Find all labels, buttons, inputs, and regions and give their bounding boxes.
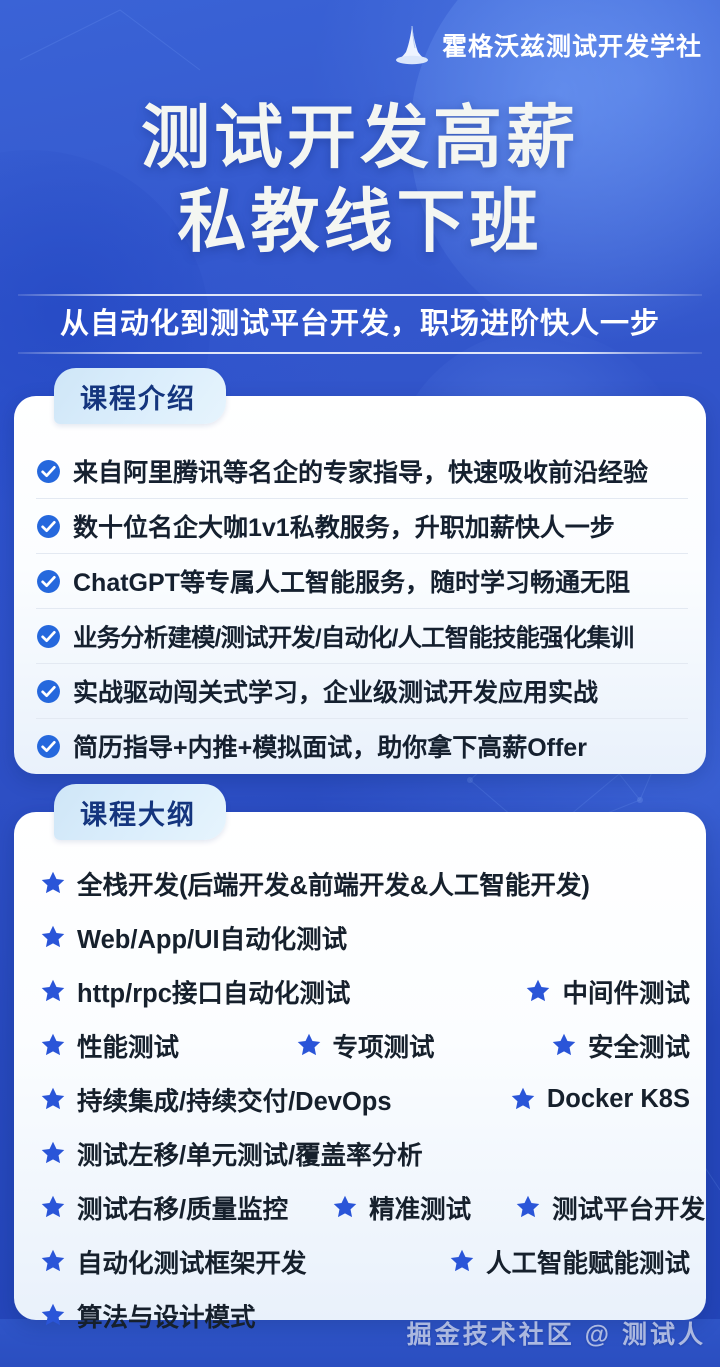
list-item-label: 数十位名企大咖1v1私教服务，升职加薪快人一步 [73, 508, 615, 544]
check-circle-icon [36, 734, 61, 759]
star-icon [40, 1032, 66, 1058]
list-item: 中间件测试 [525, 973, 690, 1010]
list-item-label: ChatGPT等专属人工智能服务，随时学习畅通无阻 [73, 563, 630, 599]
section-badge-intro: 课程介绍 [54, 368, 226, 424]
star-icon [510, 1086, 536, 1112]
hero-title-line-1: 测试开发高薪 [0, 96, 720, 180]
list-item-label: 安全测试 [588, 1027, 690, 1064]
hero-title-block: 测试开发高薪 私教线下班 [0, 96, 720, 264]
check-circle-icon [36, 569, 61, 594]
hero-title-line-2: 私教线下班 [0, 180, 720, 264]
list-item-label: 持续集成/持续交付/DevOps [77, 1081, 392, 1118]
outline-row: 测试左移/单元测试/覆盖率分析 [40, 1126, 690, 1180]
list-item: 精准测试 [332, 1189, 471, 1226]
list-item-label: 人工智能赋能测试 [486, 1243, 690, 1280]
list-item-label: 精准测试 [369, 1189, 471, 1226]
list-item-label: 测试左移/单元测试/覆盖率分析 [77, 1135, 423, 1172]
star-icon [40, 978, 66, 1004]
list-item: 人工智能赋能测试 [449, 1243, 690, 1280]
star-icon [40, 1086, 66, 1112]
list-item-label: 性能测试 [77, 1027, 179, 1064]
list-item: 测试左移/单元测试/覆盖率分析 [40, 1135, 423, 1172]
list-item: http/rpc接口自动化测试 [40, 973, 350, 1010]
list-item: 简历指导+内推+模拟面试，助你拿下高薪Offer [36, 719, 688, 773]
poster-root: 霍格沃兹测试开发学社 测试开发高薪 私教线下班 从自动化到测试平台开发，职场进阶… [0, 0, 720, 1367]
list-item: 测试平台开发 [515, 1189, 705, 1226]
star-icon [40, 1194, 66, 1220]
outline-row: 自动化测试框架开发 人工智能赋能测试 [40, 1234, 690, 1288]
star-icon [332, 1194, 358, 1220]
list-item: 安全测试 [551, 1027, 690, 1064]
star-icon [515, 1194, 541, 1220]
star-icon [40, 1248, 66, 1274]
course-outline-card: 课程大纲 全栈开发(后端开发&前端开发&人工智能开发) Web/App/UI自动… [14, 812, 706, 1320]
list-item-label: Docker K8S [547, 1085, 690, 1114]
hero-subtitle-block: 从自动化到测试平台开发，职场进阶快人一步 [0, 294, 720, 354]
star-icon [525, 978, 551, 1004]
list-item: 专项测试 [296, 1027, 435, 1064]
check-circle-icon [36, 679, 61, 704]
outline-row: Web/App/UI自动化测试 [40, 910, 690, 964]
star-icon [449, 1248, 475, 1274]
wizard-hat-icon [392, 24, 432, 66]
list-item: 性能测试 [40, 1027, 179, 1064]
star-icon [40, 1302, 66, 1328]
list-item: 算法与设计模式 [40, 1297, 256, 1334]
list-item-label: 测试平台开发 [552, 1189, 705, 1226]
course-intro-card: 课程介绍 来自阿里腾讯等名企的专家指导，快速吸收前沿经验 数十位名企大咖1v1私… [14, 396, 706, 774]
course-intro-list: 来自阿里腾讯等名企的专家指导，快速吸收前沿经验 数十位名企大咖1v1私教服务，升… [36, 444, 688, 773]
list-item-label: 简历指导+内推+模拟面试，助你拿下高薪Offer [73, 728, 587, 764]
star-icon [40, 870, 66, 896]
star-icon [296, 1032, 322, 1058]
list-item: ChatGPT等专属人工智能服务，随时学习畅通无阻 [36, 554, 688, 609]
list-item-label: 测试右移/质量监控 [77, 1189, 288, 1226]
subtitle-rule-bottom [18, 352, 702, 354]
list-item-label: Web/App/UI自动化测试 [77, 919, 347, 956]
course-outline-list: 全栈开发(后端开发&前端开发&人工智能开发) Web/App/UI自动化测试 h… [40, 856, 690, 1342]
check-circle-icon [36, 459, 61, 484]
list-item-label: 中间件测试 [562, 973, 690, 1010]
list-item-label: 专项测试 [333, 1027, 435, 1064]
list-item: 测试右移/质量监控 [40, 1189, 288, 1226]
list-item: Web/App/UI自动化测试 [40, 919, 347, 956]
list-item: 来自阿里腾讯等名企的专家指导，快速吸收前沿经验 [36, 444, 688, 499]
check-circle-icon [36, 514, 61, 539]
star-icon [551, 1032, 577, 1058]
list-item: 全栈开发(后端开发&前端开发&人工智能开发) [40, 865, 590, 902]
outline-row: http/rpc接口自动化测试 中间件测试 [40, 964, 690, 1018]
list-item: 数十位名企大咖1v1私教服务，升职加薪快人一步 [36, 499, 688, 554]
hero-subtitle: 从自动化到测试平台开发，职场进阶快人一步 [0, 296, 720, 352]
list-item-label: 自动化测试框架开发 [77, 1243, 307, 1280]
list-item: 持续集成/持续交付/DevOps [40, 1081, 392, 1118]
check-circle-icon [36, 624, 61, 649]
section-badge-outline: 课程大纲 [54, 784, 226, 840]
list-item-label: 算法与设计模式 [77, 1297, 256, 1334]
outline-row: 持续集成/持续交付/DevOps Docker K8S [40, 1072, 690, 1126]
outline-row: 全栈开发(后端开发&前端开发&人工智能开发) [40, 856, 690, 910]
outline-row: 测试右移/质量监控 精准测试 测试平台开发 [40, 1180, 690, 1234]
list-item-label: 业务分析建模/测试开发/自动化/人工智能技能强化集训 [73, 619, 634, 654]
brand-header: 霍格沃兹测试开发学社 [392, 24, 702, 66]
list-item-label: 实战驱动闯关式学习，企业级测试开发应用实战 [73, 673, 598, 709]
list-item-label: http/rpc接口自动化测试 [77, 973, 350, 1010]
star-icon [40, 1140, 66, 1166]
list-item: Docker K8S [510, 1085, 690, 1114]
list-item: 实战驱动闯关式学习，企业级测试开发应用实战 [36, 664, 688, 719]
watermark: 掘金技术社区 @ 测试人 [407, 1315, 706, 1351]
star-icon [40, 924, 66, 950]
brand-name: 霍格沃兹测试开发学社 [442, 27, 702, 63]
list-item: 自动化测试框架开发 [40, 1243, 307, 1280]
outline-row: 性能测试 专项测试 安全测试 [40, 1018, 690, 1072]
list-item: 业务分析建模/测试开发/自动化/人工智能技能强化集训 [36, 609, 688, 664]
list-item-label: 来自阿里腾讯等名企的专家指导，快速吸收前沿经验 [73, 453, 648, 489]
list-item-label: 全栈开发(后端开发&前端开发&人工智能开发) [77, 865, 590, 902]
